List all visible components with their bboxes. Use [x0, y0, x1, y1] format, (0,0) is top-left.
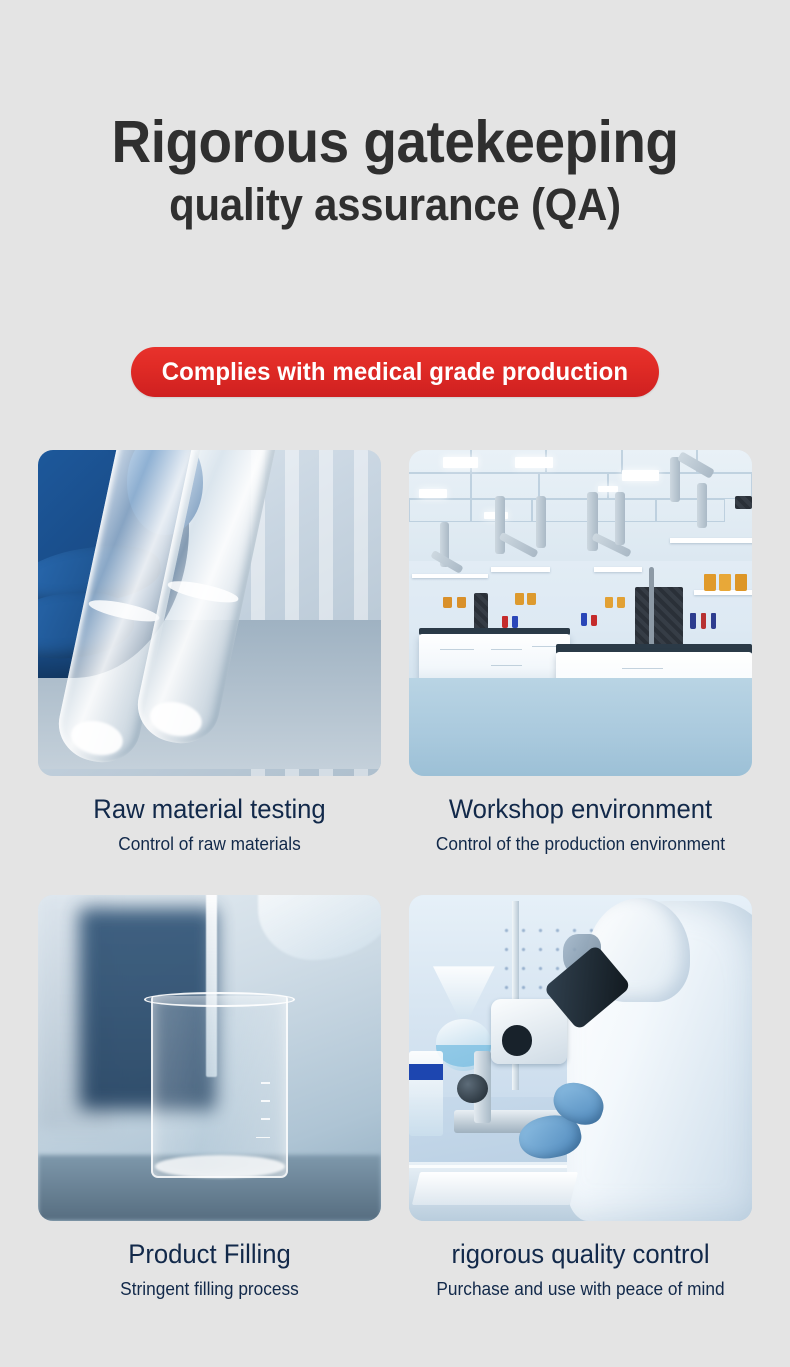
feature-row: Product Filling Stringent filling proces… [38, 895, 752, 1301]
raw-material-testing-photo [38, 450, 381, 776]
card-subtitle: Stringent filling process [45, 1279, 374, 1301]
card-title: Raw material testing [47, 794, 373, 825]
card-subtitle: Control of the production environment [416, 834, 745, 856]
workshop-environment-photo [409, 450, 752, 776]
feature-grid: Raw material testing Control of raw mate… [38, 450, 752, 1300]
feature-row: Raw material testing Control of raw mate… [38, 450, 752, 856]
card-subtitle: Purchase and use with peace of mind [416, 1279, 745, 1301]
feature-card-raw-material-testing[interactable]: Raw material testing Control of raw mate… [38, 450, 381, 856]
feature-card-product-filling[interactable]: Product Filling Stringent filling proces… [38, 895, 381, 1301]
feature-card-quality-control[interactable]: rigorous quality control Purchase and us… [409, 895, 752, 1301]
card-subtitle: Control of raw materials [45, 834, 374, 856]
qa-promo-page: Rigorous gatekeeping quality assurance (… [0, 0, 790, 1367]
card-title: rigorous quality control [418, 1239, 744, 1270]
row-gap [38, 856, 752, 895]
page-title: Rigorous gatekeeping [28, 112, 763, 173]
card-title: Workshop environment [418, 794, 744, 825]
product-filling-photo [38, 895, 381, 1221]
card-title: Product Filling [47, 1239, 373, 1270]
page-header: Rigorous gatekeeping quality assurance (… [0, 112, 790, 229]
quality-control-photo [409, 895, 752, 1221]
feature-card-workshop-environment[interactable]: Workshop environment Control of the prod… [409, 450, 752, 856]
page-subtitle: quality assurance (QA) [28, 181, 763, 230]
badge-container: Complies with medical grade production [0, 347, 790, 397]
medical-grade-badge[interactable]: Complies with medical grade production [131, 347, 659, 397]
